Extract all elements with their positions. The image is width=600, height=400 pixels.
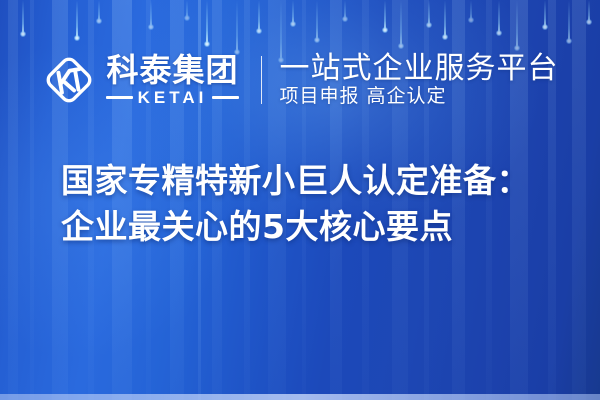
particle-trail: [516, 0, 518, 48]
brand-name-english: KETAI: [138, 89, 208, 106]
light-particle: [316, 0, 318, 40]
particle-dot: [290, 21, 296, 27]
light-particle: [292, 0, 294, 24]
light-particle: [568, 0, 570, 41]
headline-title: 国家专精特新小巨人认定准备：企业最关心的5大核心要点: [61, 158, 561, 250]
light-particle: [588, 0, 590, 22]
particle-dot: [382, 27, 388, 33]
kt-diamond-monogram-icon: [41, 52, 97, 108]
particle-dot: [342, 16, 348, 22]
brand-name-chinese: 科泰集团: [106, 54, 238, 87]
light-particle: [498, 0, 500, 33]
promo-banner: 科泰集团 KETAI 一站式企业服务平台 项目申报 高企认定 国家专精特新小巨人…: [0, 0, 600, 400]
particle-trail: [206, 0, 208, 44]
particle-trail: [444, 0, 446, 37]
header-divider: [261, 56, 262, 104]
light-particle: [544, 0, 546, 27]
wordmark-dash-right: [212, 96, 238, 99]
light-particle: [76, 0, 78, 38]
particle-trail: [344, 0, 346, 19]
particle-trail: [384, 0, 386, 30]
particle-trail: [98, 0, 100, 21]
light-particle: [470, 0, 472, 20]
bottom-light-edge: [0, 394, 600, 400]
particle-trail: [76, 0, 78, 38]
particle-dot: [426, 22, 432, 28]
particle-dot: [256, 28, 262, 34]
particle-dot: [74, 35, 80, 41]
particle-trail: [470, 0, 472, 20]
particle-dot: [442, 34, 448, 40]
light-particle: [206, 0, 208, 44]
light-particle: [22, 0, 24, 34]
light-particle: [186, 0, 188, 18]
brand-wordmark: 科泰集团 KETAI: [106, 54, 238, 107]
particle-trail: [316, 0, 318, 40]
tagline-secondary: 项目申报 高企认定: [280, 86, 559, 107]
light-particle: [150, 0, 152, 27]
light-particle: [400, 0, 402, 46]
brand-tagline: 一站式企业服务平台 项目申报 高企认定: [280, 53, 559, 107]
particle-trail: [400, 0, 402, 46]
particle-trail: [186, 0, 188, 18]
wordmark-dash-left: [106, 96, 132, 99]
particle-dot: [586, 19, 592, 25]
particle-trail: [588, 0, 590, 22]
brand-name-english-row: KETAI: [106, 89, 238, 106]
brand-logo[interactable]: 科泰集团 KETAI: [41, 52, 238, 108]
particle-trail: [544, 0, 546, 27]
particle-dot: [184, 15, 190, 21]
particle-trail: [150, 0, 152, 27]
particle-dot: [542, 24, 548, 30]
particle-trail: [258, 0, 260, 31]
particle-trail: [428, 0, 430, 25]
light-particle: [444, 0, 446, 37]
particle-dot: [148, 24, 154, 30]
light-particle: [98, 0, 100, 21]
particle-trail: [568, 0, 570, 41]
particle-trail: [292, 0, 294, 24]
particle-dot: [496, 30, 502, 36]
light-particle: [428, 0, 430, 25]
banner-header: 科泰集团 KETAI 一站式企业服务平台 项目申报 高企认定: [0, 42, 600, 118]
light-particle: [258, 0, 260, 31]
particle-dot: [96, 18, 102, 24]
particle-trail: [498, 0, 500, 33]
particle-trail: [22, 0, 24, 34]
particle-dot: [468, 17, 474, 23]
tagline-primary: 一站式企业服务平台: [280, 53, 559, 85]
light-particle: [384, 0, 386, 30]
particle-dot: [20, 31, 26, 37]
light-particle: [516, 0, 518, 48]
light-particle: [344, 0, 346, 19]
